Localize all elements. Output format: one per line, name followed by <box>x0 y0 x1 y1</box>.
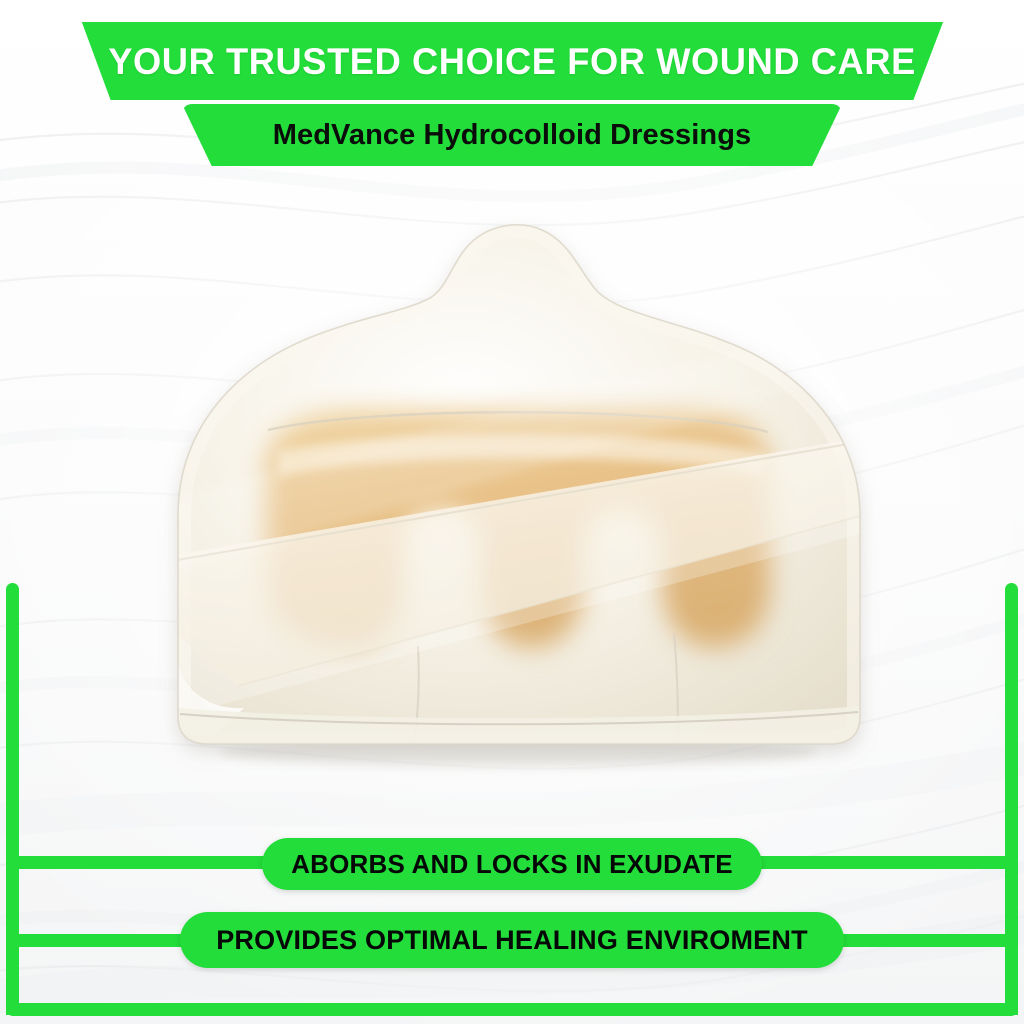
product-name-text: MedVance Hydrocolloid Dressings <box>273 121 752 150</box>
headline-text: YOUR TRUSTED CHOICE FOR WOUND CARE <box>108 43 916 80</box>
frame-bar-left <box>6 583 19 1015</box>
frame-rule-bottom <box>6 1003 1018 1016</box>
feature-pill-absorbs: ABORBS AND LOCKS IN EXUDATE <box>262 838 762 890</box>
product-marketing-image: YOUR TRUSTED CHOICE FOR WOUND CARE MedVa… <box>0 0 1024 1024</box>
feature-pill-healing: PROVIDES OPTIMAL HEALING ENVIROMENT <box>180 912 844 968</box>
feature-label-2: PROVIDES OPTIMAL HEALING ENVIROMENT <box>216 927 808 954</box>
product-image <box>118 216 918 796</box>
headline-banner: YOUR TRUSTED CHOICE FOR WOUND CARE <box>62 22 962 100</box>
feature-label-1: ABORBS AND LOCKS IN EXUDATE <box>291 851 733 877</box>
subtitle-banner: MedVance Hydrocolloid Dressings <box>182 104 842 166</box>
hydrocolloid-dressing-illustration <box>118 216 918 796</box>
frame-bar-right <box>1005 583 1018 1015</box>
